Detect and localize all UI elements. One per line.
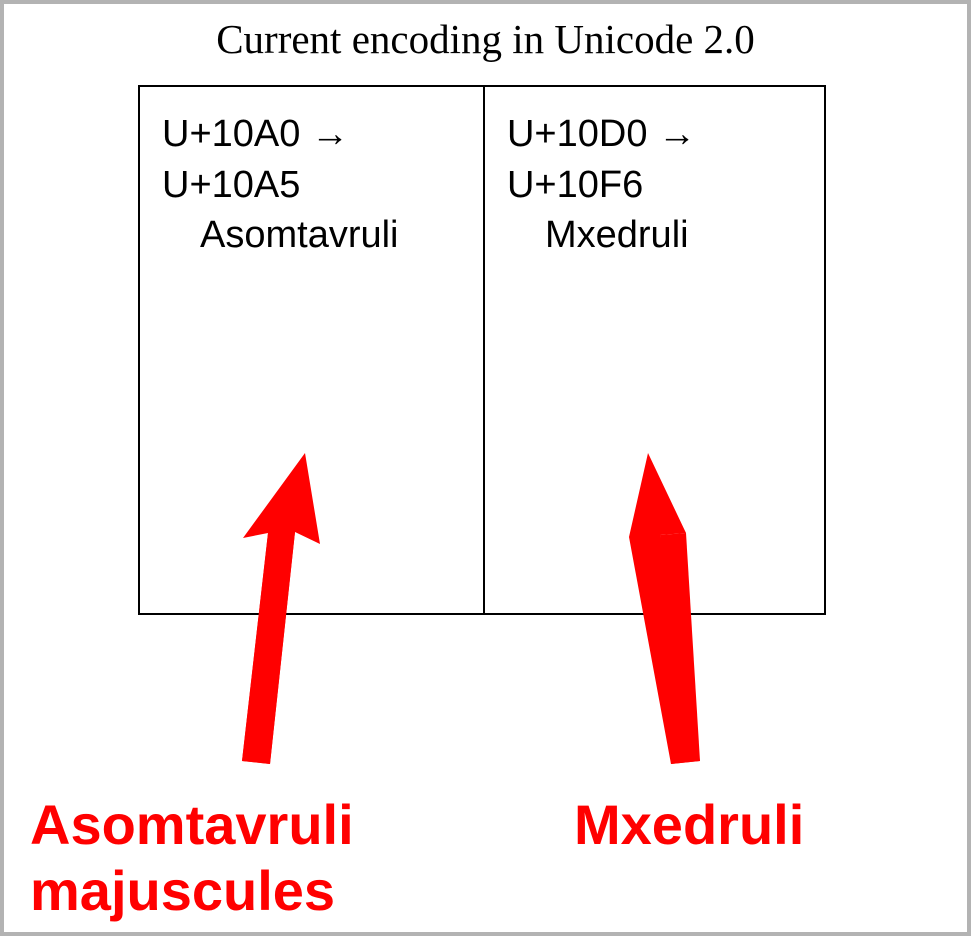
table-column-mxedruli: U+10D0 → U+10F6 Mxedruli (485, 87, 824, 613)
encoding-table: U+10A0 → U+10A5 Asomtavruli U+10D0 → U+1… (138, 85, 826, 615)
asomtavruli-script-name: Asomtavruli (162, 210, 483, 261)
mxedruli-caption: Mxedruli (574, 792, 804, 858)
table-column-asomtavruli: U+10A0 → U+10A5 Asomtavruli (140, 87, 485, 613)
page-title: Current encoding in Unicode 2.0 (4, 18, 967, 61)
mxedruli-range-start: U+10D0 → (507, 109, 824, 160)
asomtavruli-range-start: U+10A0 → (162, 109, 483, 160)
asomtavruli-range-end: U+10A5 (162, 160, 483, 211)
slide-canvas: Current encoding in Unicode 2.0 U+10A0 →… (0, 0, 971, 936)
asomtavruli-caption: Asomtavruli majuscules (30, 792, 354, 924)
mxedruli-range-end: U+10F6 (507, 160, 824, 211)
mxedruli-script-name: Mxedruli (507, 210, 824, 261)
